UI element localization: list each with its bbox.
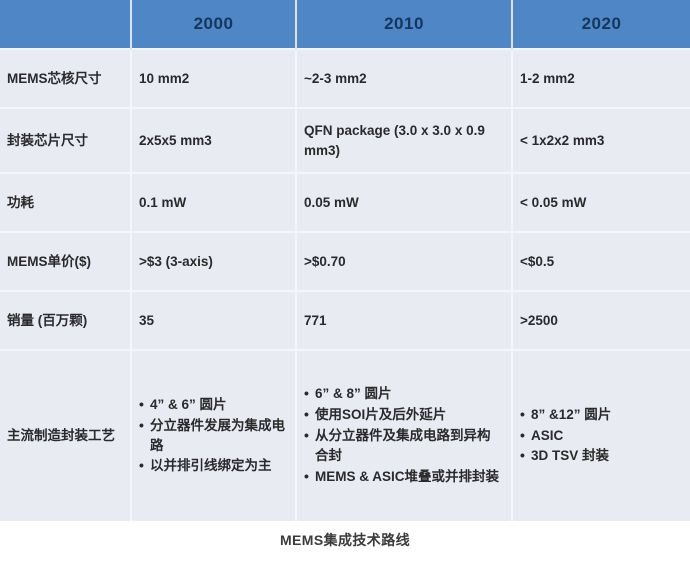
header-row: 2000 2010 2020 [0,0,690,49]
bullet-list-2020: 8” &12” 圆片ASIC3D TSV 封装 [520,405,682,467]
cell-mems-die-size-2000: 10 mm2 [131,49,296,108]
table-row: 销量 (百万颗) 35 771 >2500 [0,291,690,350]
cell-power-2020: < 0.05 mW [512,173,690,232]
cell-shipments-2000: 35 [131,291,296,350]
row-label-unit-price: MEMS单价($) [0,232,131,291]
mems-technology-roadmap-table: 2000 2010 2020 MEMS芯核尺寸 10 mm2 ~2-3 mm2 … [0,0,690,521]
table-row: MEMS单价($) >$3 (3-axis) >$0.70 <$0.5 [0,232,690,291]
cell-unit-price-2000: >$3 (3-axis) [131,232,296,291]
cell-package-size-2020: < 1x2x2 mm3 [512,108,690,173]
mems-roadmap-figure: 2000 2010 2020 MEMS芯核尺寸 10 mm2 ~2-3 mm2 … [0,0,690,561]
tech-table-wrapper: 2000 2010 2020 MEMS芯核尺寸 10 mm2 ~2-3 mm2 … [0,0,690,521]
cell-unit-price-2010: >$0.70 [296,232,512,291]
header-cell-2000: 2000 [131,0,296,49]
bullet-list-2000: 4” & 6” 圆片分立器件发展为集成电路以并排引线绑定为主 [139,395,287,477]
bullet-item: 8” &12” 圆片 [520,405,682,425]
cell-process-2020: 8” &12” 圆片ASIC3D TSV 封装 [512,350,690,521]
cell-mems-die-size-2020: 1-2 mm2 [512,49,690,108]
cell-power-2000: 0.1 mW [131,173,296,232]
figure-caption: MEMS集成技术路线 [0,530,690,550]
bullet-item: 以并排引线绑定为主 [139,456,287,476]
table-row: 主流制造封装工艺 4” & 6” 圆片分立器件发展为集成电路以并排引线绑定为主 … [0,350,690,521]
bullet-item: 3D TSV 封装 [520,446,682,466]
bullet-item: 使用SOI片及后外延片 [304,405,503,425]
bullet-list-2010: 6” & 8” 圆片使用SOI片及后外延片从分立器件及集成电路到异构合封MEMS… [304,384,503,487]
cell-process-2010: 6” & 8” 圆片使用SOI片及后外延片从分立器件及集成电路到异构合封MEMS… [296,350,512,521]
cell-mems-die-size-2010: ~2-3 mm2 [296,49,512,108]
table-header: 2000 2010 2020 [0,0,690,49]
cell-power-2010: 0.05 mW [296,173,512,232]
bullet-item: 从分立器件及集成电路到异构合封 [304,426,503,466]
bullet-item: 4” & 6” 圆片 [139,395,287,415]
table-row: MEMS芯核尺寸 10 mm2 ~2-3 mm2 1-2 mm2 [0,49,690,108]
bullet-item: 6” & 8” 圆片 [304,384,503,404]
table-row: 功耗 0.1 mW 0.05 mW < 0.05 mW [0,173,690,232]
cell-shipments-2010: 771 [296,291,512,350]
bullet-item: 分立器件发展为集成电路 [139,416,287,456]
cell-package-size-2010: QFN package (3.0 x 3.0 x 0.9 mm3) [296,108,512,173]
bullet-item: ASIC [520,426,682,446]
row-label-process: 主流制造封装工艺 [0,350,131,521]
table-body: MEMS芯核尺寸 10 mm2 ~2-3 mm2 1-2 mm2 封装芯片尺寸 … [0,49,690,521]
row-label-power: 功耗 [0,173,131,232]
row-label-shipments: 销量 (百万颗) [0,291,131,350]
cell-shipments-2020: >2500 [512,291,690,350]
cell-package-size-2000: 2x5x5 mm3 [131,108,296,173]
cell-unit-price-2020: <$0.5 [512,232,690,291]
bullet-item: MEMS & ASIC堆叠或并排封装 [304,467,503,487]
cell-process-2000: 4” & 6” 圆片分立器件发展为集成电路以并排引线绑定为主 [131,350,296,521]
header-cell-blank [0,0,131,49]
table-row: 封装芯片尺寸 2x5x5 mm3 QFN package (3.0 x 3.0 … [0,108,690,173]
header-cell-2010: 2010 [296,0,512,49]
row-label-package-size: 封装芯片尺寸 [0,108,131,173]
header-cell-2020: 2020 [512,0,690,49]
row-label-mems-die-size: MEMS芯核尺寸 [0,49,131,108]
